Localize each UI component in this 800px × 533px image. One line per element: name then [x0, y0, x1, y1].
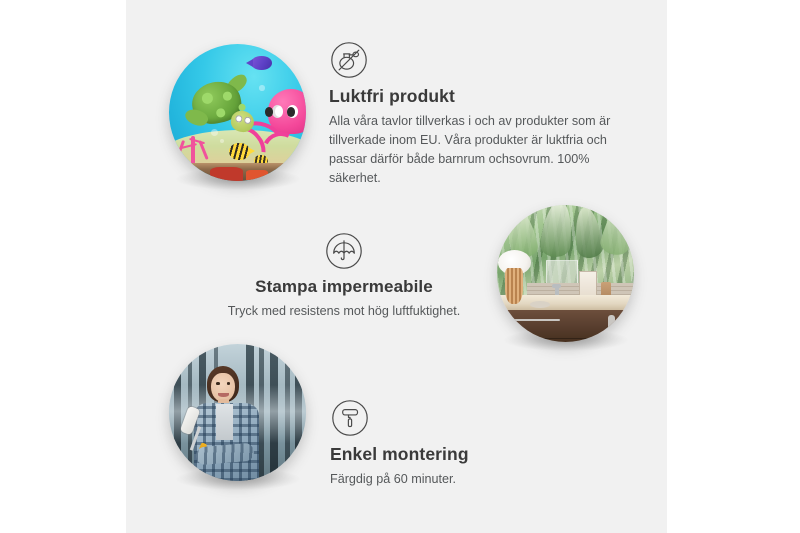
medallion-bathroom-scene — [497, 205, 634, 342]
feature-body: Färgdig på 60 minuter. — [330, 470, 610, 489]
woman-eye — [216, 382, 220, 385]
feature-block-waterproof: Stampa impermeabile Tryck med resistens … — [200, 232, 488, 321]
leaf-motif — [598, 205, 634, 258]
leaf-motif — [539, 205, 575, 259]
mural-bottom-strip — [169, 163, 306, 181]
woman-smile — [218, 393, 229, 397]
medallion-underwater-scene — [169, 44, 306, 181]
purple-fish — [251, 56, 272, 70]
feature-block-easy-mounting: Enkel montering Färgdig på 60 minuter. — [330, 399, 610, 489]
medallion-forest-scene — [169, 344, 306, 481]
soap-dish — [530, 301, 551, 308]
inner-shirt — [216, 404, 234, 440]
leaf-motif — [572, 205, 605, 259]
feature-body: Alla våra tavlor tillverkas i och av pro… — [329, 112, 619, 189]
pink-coral — [173, 129, 214, 165]
yellow-fish — [229, 143, 250, 161]
bubble-icon — [259, 85, 264, 90]
forest-background — [169, 344, 306, 481]
feature-poster: Luktfri produkt Alla våra tavlor tillver… — [0, 0, 800, 533]
octopus-pupil — [265, 107, 273, 117]
feature-body: Tryck med resistens mot hög luftfuktighe… — [200, 302, 488, 321]
octopus-pupil — [287, 107, 295, 117]
feature-headline: Stampa impermeabile — [200, 277, 488, 297]
underwater-water — [169, 44, 306, 181]
feature-headline: Enkel montering — [330, 444, 610, 465]
wooden-vanity-cabinet — [497, 310, 634, 342]
umbrella-icon — [325, 232, 363, 270]
ribbed-vase — [505, 268, 523, 304]
drawer-seam — [497, 338, 634, 339]
bathroom-interior — [497, 205, 634, 342]
woman-face — [211, 373, 234, 402]
feature-headline: Luktfri produkt — [329, 86, 629, 107]
feature-block-odour-free: Luktfri produkt Alla våra tavlor tillver… — [329, 41, 629, 189]
woman-eye — [227, 382, 231, 385]
paint-roller-icon — [331, 399, 369, 437]
no-odour-perfume-icon — [330, 41, 368, 79]
